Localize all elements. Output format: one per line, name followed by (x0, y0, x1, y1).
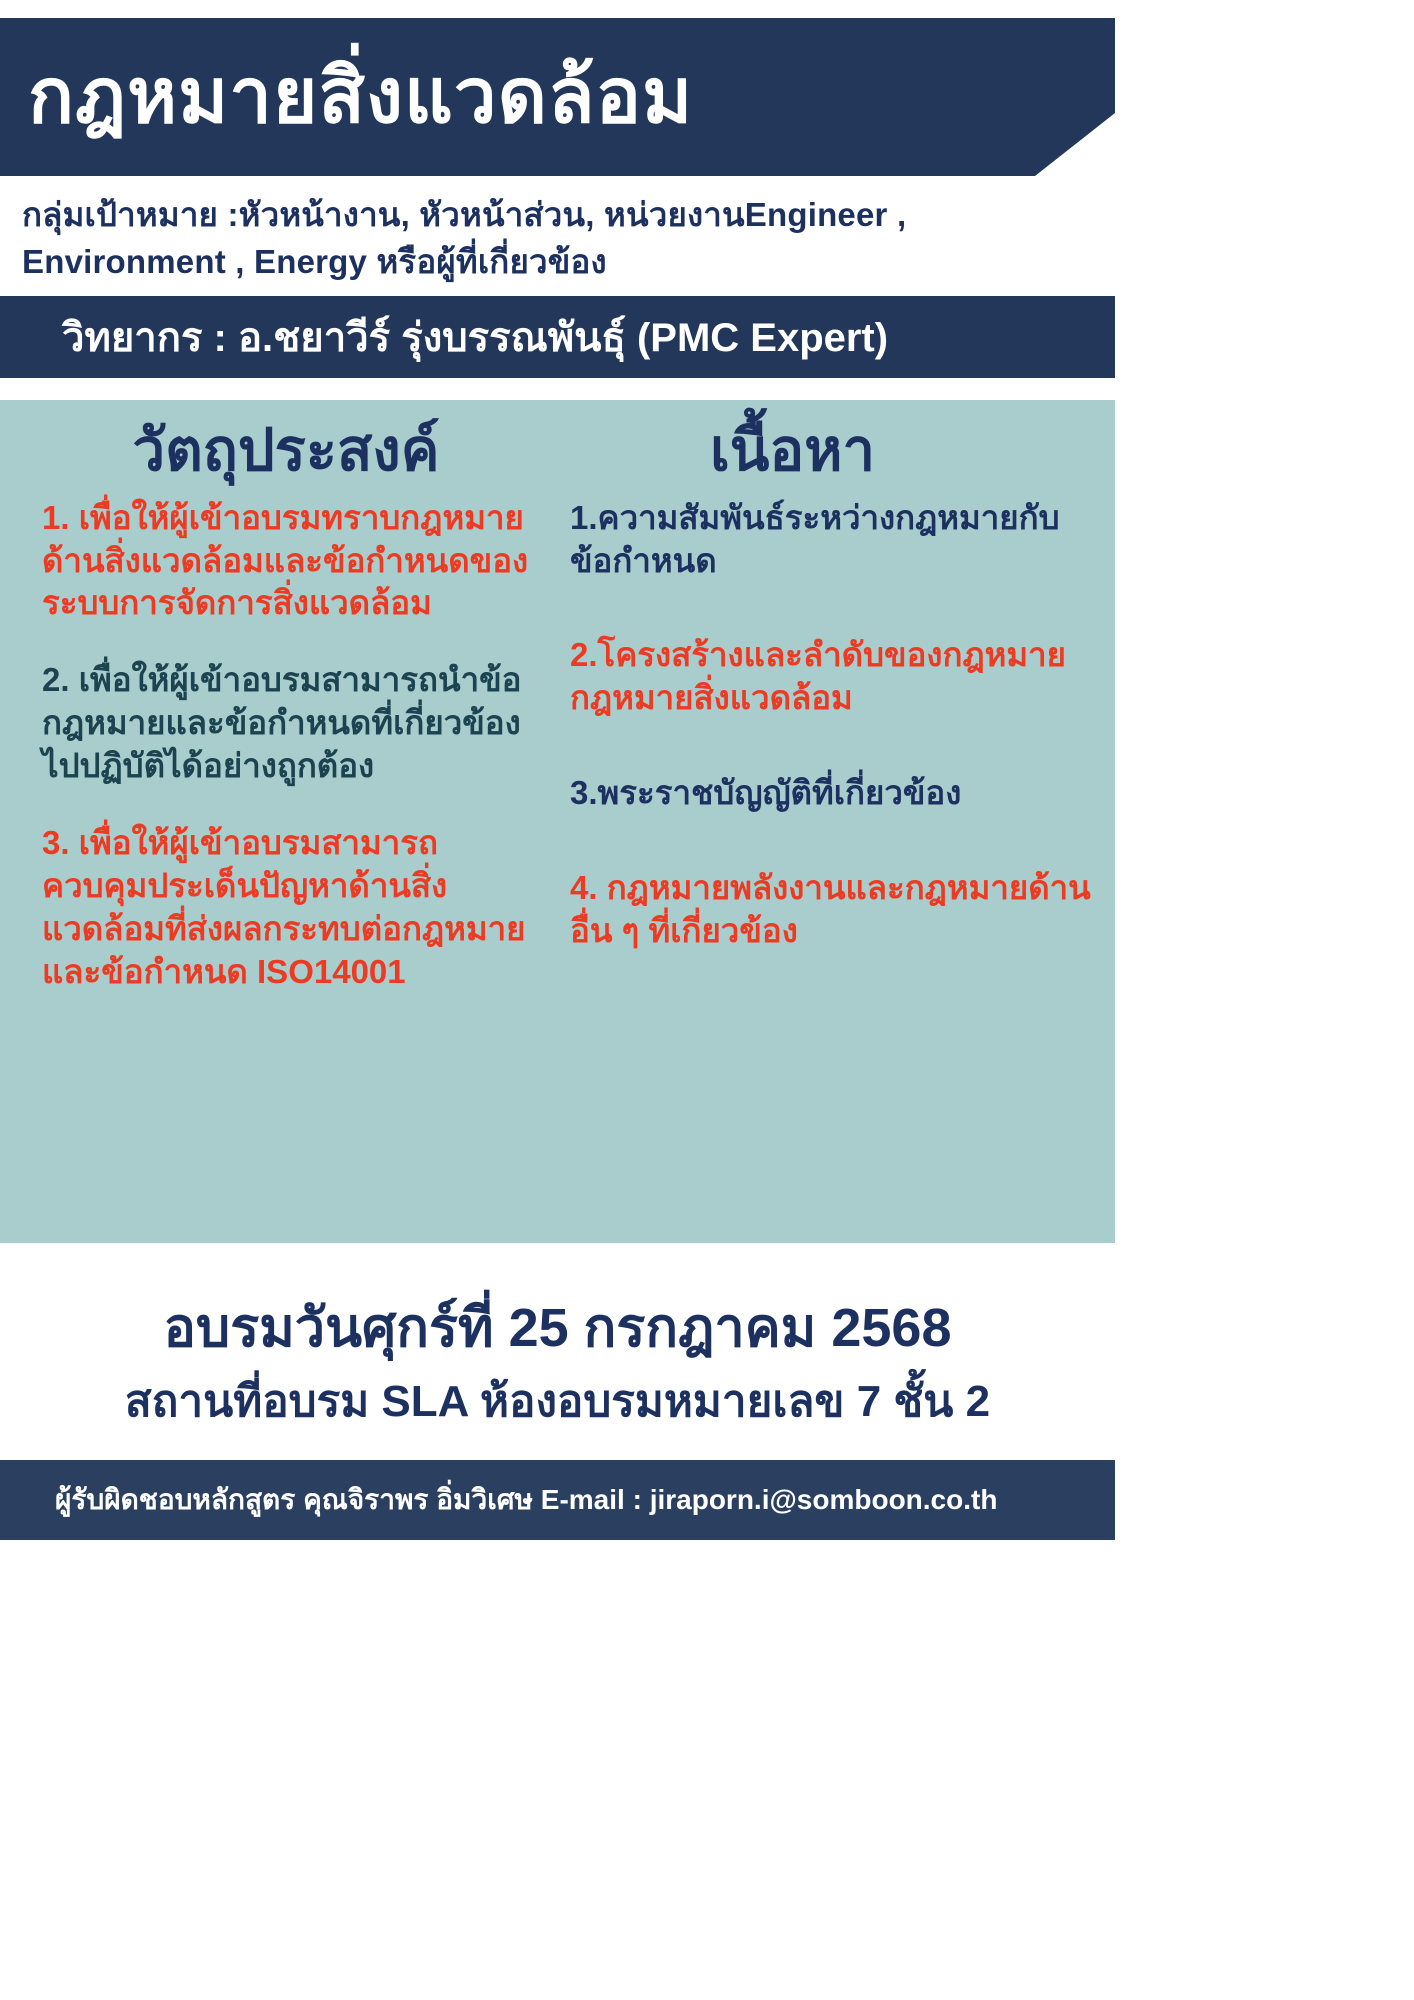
training-date: อบรมวันศุกร์ที่ 25 กรกฎาคม 2568 (0, 1295, 1115, 1363)
objective-item-2: 2. เพื่อให้ผู้เข้าอบรมสามารถนำข้อกฎหมายแ… (42, 659, 530, 788)
content-item-3: 3.พระราชบัญญัติที่เกี่ยวข้อง (570, 772, 1095, 815)
content-heading: เนื้อหา (570, 418, 1095, 485)
speaker-name: วิทยากร : อ.ชยาวีร์ รุ่งบรรณพันธุ์ (PMC … (0, 305, 888, 369)
content-column: เนื้อหา 1.ความสัมพันธ์ระหว่างกฎหมายกับข้… (560, 400, 1115, 1243)
footer-bar: ผู้รับผิดชอบหลักสูตร คุณจิราพร อิ่มวิเศษ… (0, 1460, 1115, 1540)
target-audience-line-1: กลุ่มเป้าหมาย :หัวหน้างาน, หัวหน้าส่วน, … (22, 192, 1095, 239)
training-venue: สถานที่อบรม SLA ห้องอบรมหมายเลข 7 ชั้น 2 (0, 1373, 1115, 1430)
main-panel: วัตถุประสงค์ 1. เพื่อให้ผู้เข้าอบรมทราบก… (0, 400, 1115, 1243)
content-item-4: 4. กฎหมายพลังงานและกฎหมายด้านอื่น ๆ ที่เ… (570, 867, 1095, 953)
speaker-bar: วิทยากร : อ.ชยาวีร์ รุ่งบรรณพันธุ์ (PMC … (0, 296, 1115, 378)
target-audience-block: กลุ่มเป้าหมาย :หัวหน้างาน, หัวหน้าส่วน, … (0, 178, 1115, 294)
target-audience-line-2: Environment , Energy หรือผู้ที่เกี่ยวข้อ… (22, 239, 1095, 286)
content-item-2: 2.โครงสร้างและลำดับของกฎหมายกฎหมายสิ่งแว… (570, 634, 1095, 720)
objectives-column: วัตถุประสงค์ 1. เพื่อให้ผู้เข้าอบรมทราบก… (0, 400, 560, 1243)
schedule-block: อบรมวันศุกร์ที่ 25 กรกฎาคม 2568 สถานที่อ… (0, 1243, 1115, 1460)
objectives-heading: วัตถุประสงค์ (42, 418, 530, 485)
objective-item-3: 3. เพื่อให้ผู้เข้าอบรมสามารถควบคุมประเด็… (42, 822, 530, 994)
header-banner: กฎหมายสิ่งแวดล้อม (0, 18, 1115, 176)
page-title: กฎหมายสิ่งแวดล้อม (0, 57, 693, 137)
objective-item-1: 1. เพื่อให้ผู้เข้าอบรมทราบกฎหมายด้านสิ่ง… (42, 497, 530, 626)
course-contact: ผู้รับผิดชอบหลักสูตร คุณจิราพร อิ่มวิเศษ… (0, 1478, 997, 1522)
content-item-1: 1.ความสัมพันธ์ระหว่างกฎหมายกับข้อกำหนด (570, 497, 1095, 583)
